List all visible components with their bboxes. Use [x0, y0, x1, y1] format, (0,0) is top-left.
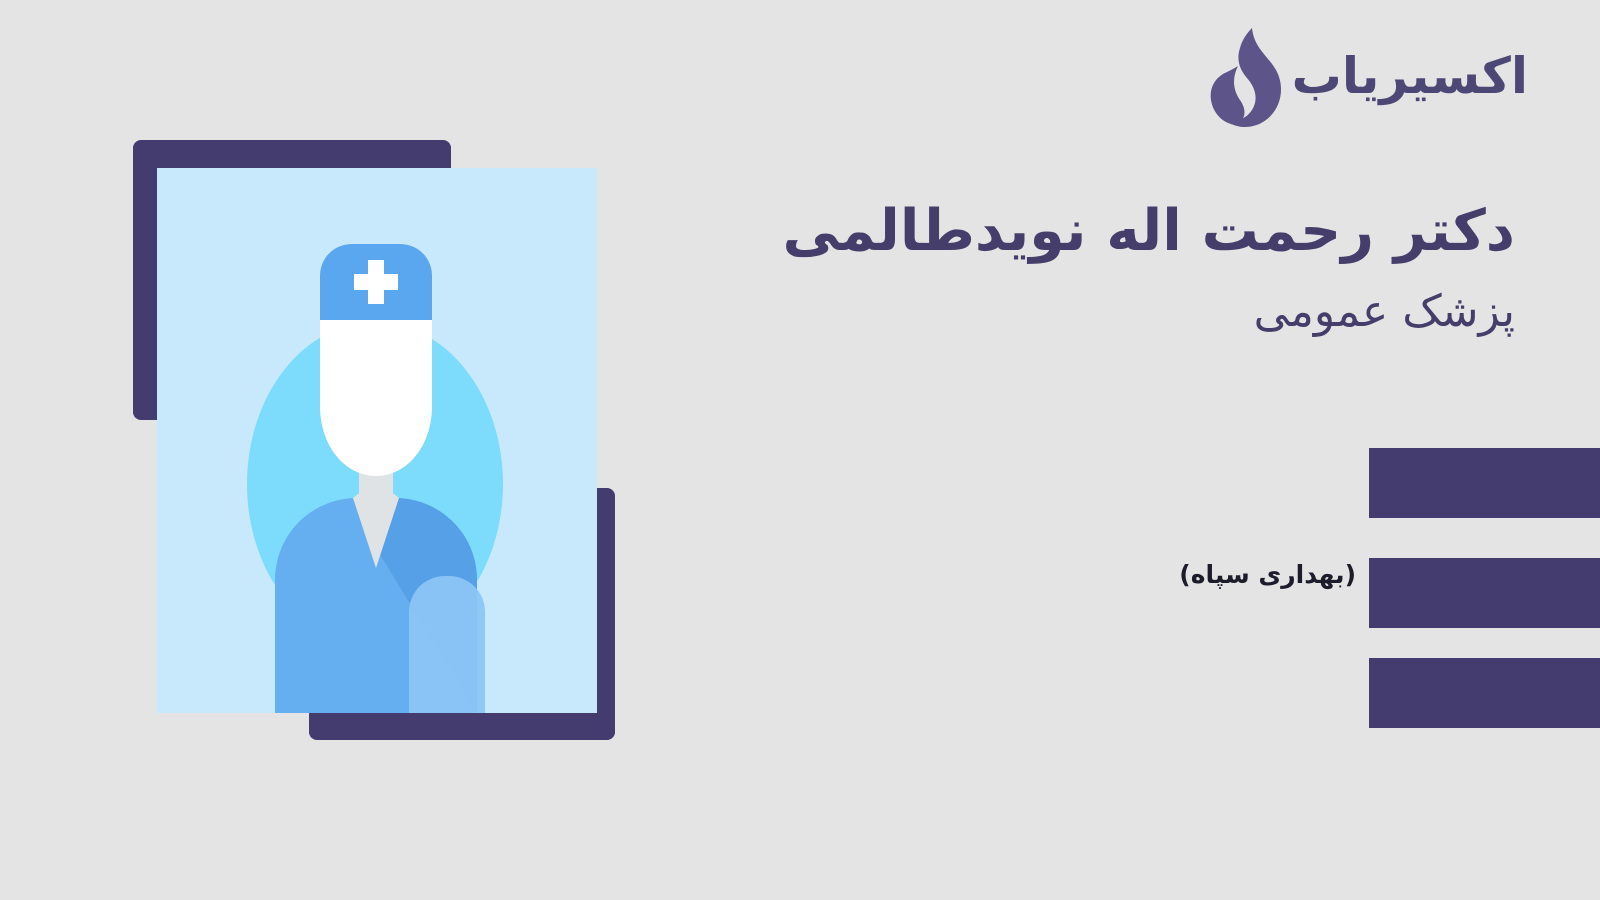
doctor-photo-card: [157, 168, 597, 713]
profile-text-block: دکتر رحمت اله نویدطالمی پزشک عمومی: [615, 196, 1515, 340]
doctor-specialty: پزشک عمومی: [615, 283, 1515, 340]
decor-bar-3: [1369, 658, 1600, 728]
doctor-avatar-illustration: [157, 168, 597, 713]
doctor-name: دکتر رحمت اله نویدطالمی: [615, 196, 1515, 267]
profile-banner: اکسیریاب: [0, 0, 1600, 900]
decor-bar-2: [1369, 558, 1600, 628]
brand-wordmark: اکسیریاب: [1292, 51, 1528, 107]
doctor-affiliation: (بهداری سپاه): [1179, 560, 1356, 589]
flame-droplet-icon: [1202, 26, 1286, 132]
brand-logo[interactable]: اکسیریاب: [1202, 26, 1528, 132]
doctor-illustration-group: [133, 140, 615, 740]
decor-bar-1: [1369, 448, 1600, 518]
